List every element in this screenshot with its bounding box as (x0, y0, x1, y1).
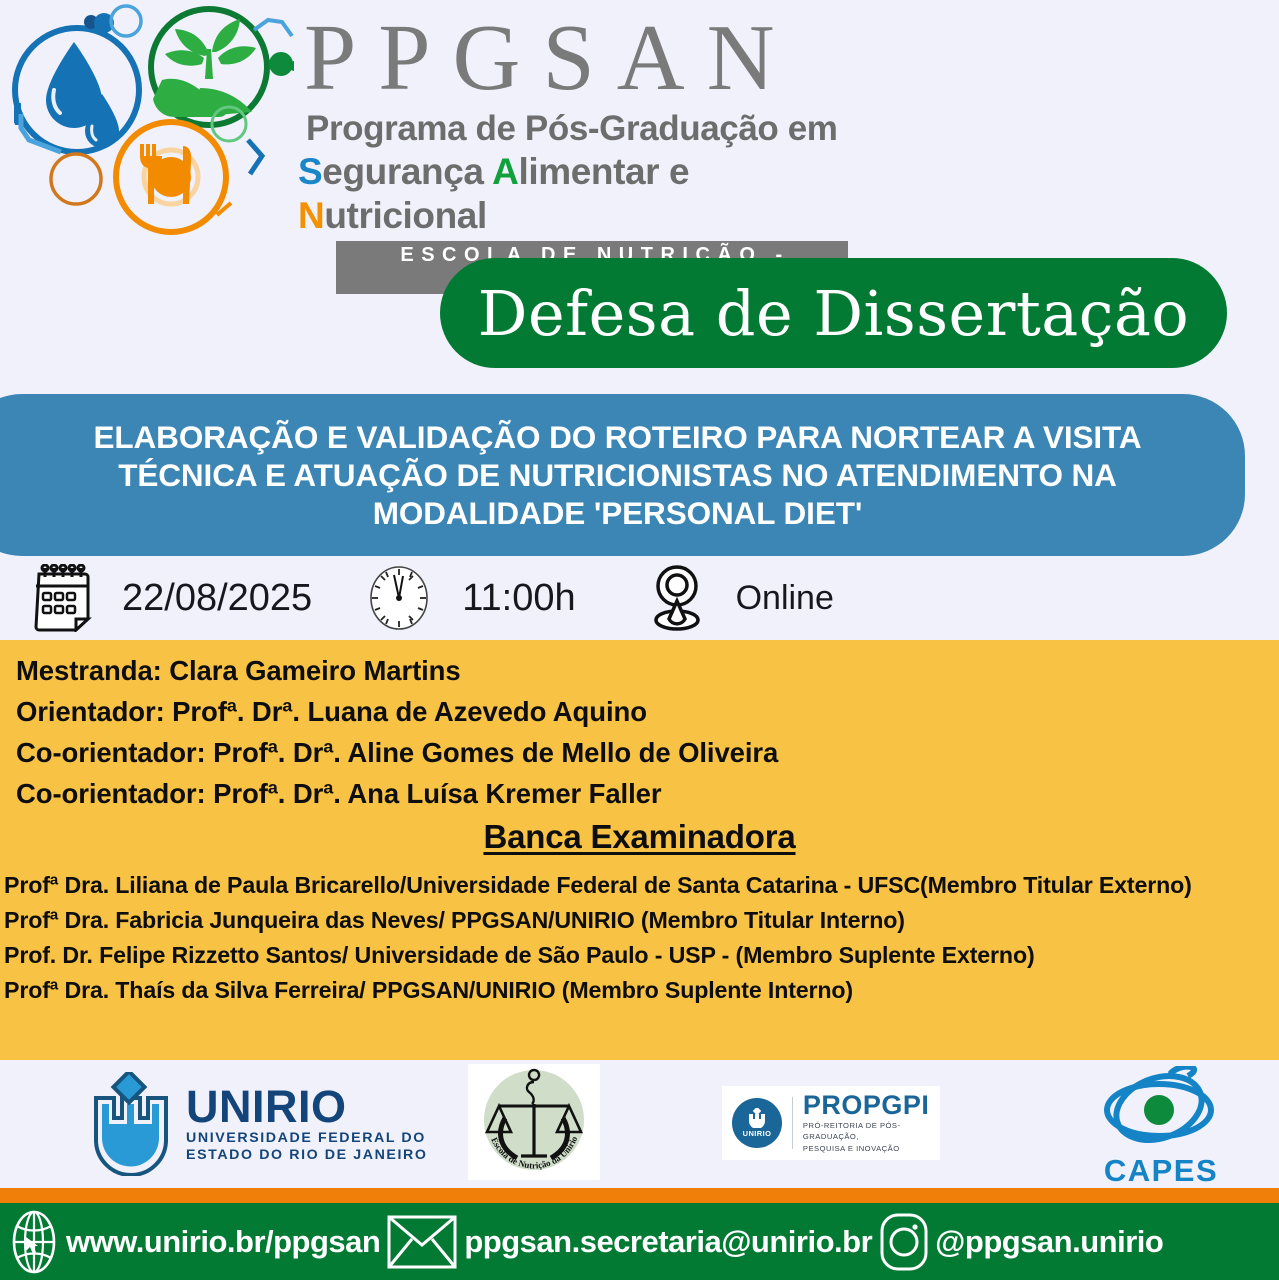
propgpi-badge-label: UNIRIO (743, 1129, 772, 1138)
capes-logo: CAPES (1086, 1066, 1236, 1184)
escola-nutricao-logo: Escola de Nutrição da Unirio (468, 1064, 600, 1180)
contact-footer: www.unirio.br/ppgsan ppgsan.secretaria@u… (0, 1203, 1279, 1280)
committee-member: Profª Dra. Fabricia Junqueira das Neves/… (4, 903, 1273, 938)
calendar-icon (30, 564, 94, 632)
thesis-title: ELABORAÇÃO E VALIDAÇÃO DO ROTEIRO PARA N… (50, 418, 1185, 532)
san-icons-graphic (4, 2, 294, 247)
instagram-text: @ppgsan.unirio (935, 1224, 1163, 1260)
instagram-contact[interactable]: @ppgsan.unirio (878, 1211, 1163, 1273)
people-list: Mestranda: Clara Gameiro Martins Orienta… (0, 640, 1279, 814)
people-line-advisor: Orientador: Profª. Drª. Luana de Azevedo… (16, 691, 1279, 732)
brand-wordmark: PPGSAN Programa de Pós-Graduação em Segu… (296, 8, 856, 240)
brand-s: S (298, 151, 322, 192)
website-contact[interactable]: www.unirio.br/ppgsan (8, 1209, 380, 1275)
globe-icon (8, 1209, 60, 1275)
propgpi-sub-2: PESQUISA E INOVAÇÃO (803, 1144, 940, 1155)
clock-icon (368, 564, 430, 632)
poster-header: PPGSAN Programa de Pós-Graduação em Segu… (0, 0, 1279, 250)
brand-seguranca: egurança (322, 151, 492, 192)
people-line-student: Mestranda: Clara Gameiro Martins (16, 650, 1279, 691)
committee-member: Prof. Dr. Felipe Rizzetto Santos/ Univer… (4, 938, 1273, 973)
brand-acronym: PPGSAN (296, 8, 856, 108)
event-type-label: Defesa de Dissertação (478, 277, 1190, 350)
people-line-coadvisor-2: Co-orientador: Profª. Drª. Ana Luísa Kre… (16, 773, 1279, 814)
escola-nutricao-seal-icon: Escola de Nutrição da Unirio (475, 1066, 593, 1178)
propgpi-logo: UNIRIO PROPGPI PRÓ-REITORIA DE PÓS-GRADU… (722, 1086, 940, 1160)
email-text: ppgsan.secretaria@unirio.br (464, 1224, 872, 1260)
brand-a: A (492, 151, 518, 192)
brand-alimentar: limentar e (518, 151, 689, 192)
brand-line-2: Programa de Pós-Graduação em (296, 108, 856, 150)
unirio-logo: UNIRIO UNIVERSIDADE FEDERAL DO ESTADO DO… (78, 1072, 428, 1176)
people-line-coadvisor-1: Co-orientador: Profª. Drª. Aline Gomes d… (16, 732, 1279, 773)
envelope-icon (386, 1213, 458, 1271)
committee-member: Profª Dra. Liliana de Paula Bricarello/U… (4, 868, 1273, 903)
event-location-item: Online (648, 563, 834, 633)
thesis-title-banner: ELABORAÇÃO E VALIDAÇÃO DO ROTEIRO PARA N… (0, 394, 1245, 556)
unirio-name: UNIRIO (186, 1084, 428, 1130)
email-contact[interactable]: ppgsan.secretaria@unirio.br (386, 1213, 872, 1271)
committee-heading: Banca Examinadora (0, 818, 1279, 856)
propgpi-name: PROPGPI (803, 1091, 940, 1119)
brand-n: N (298, 195, 324, 236)
capes-name: CAPES (1086, 1153, 1236, 1189)
map-pin-icon (648, 563, 706, 633)
committee-member: Profª Dra. Thaís da Silva Ferreira/ PPGS… (4, 973, 1273, 1008)
propgpi-divider (792, 1097, 793, 1149)
event-details-row: 22/08/2025 11:00h (0, 556, 1279, 640)
brand-line-3: Segurança Alimentar e Nutricional (296, 150, 856, 238)
committee-member-list: Profª Dra. Liliana de Paula Bricarello/U… (0, 868, 1279, 1008)
unirio-badge-icon (746, 1108, 768, 1128)
event-location-value: Online (736, 579, 834, 618)
propgpi-wordmark: PROPGPI PRÓ-REITORIA DE PÓS-GRADUAÇÃO, P… (803, 1091, 940, 1155)
footer-orange-stripe (0, 1188, 1279, 1203)
unirio-shield-icon (78, 1072, 176, 1176)
capes-orbit-icon (1086, 1066, 1236, 1152)
event-date-item: 22/08/2025 (30, 564, 312, 632)
brand-nutricional: utricional (324, 195, 487, 236)
website-text: www.unirio.br/ppgsan (66, 1224, 380, 1260)
unirio-sub-1: UNIVERSIDADE FEDERAL DO (186, 1130, 428, 1147)
event-type-banner: Defesa de Dissertação (440, 258, 1227, 368)
event-time-item: 11:00h (368, 564, 575, 632)
unirio-sub-2: ESTADO DO RIO DE JANEIRO (186, 1147, 428, 1164)
event-date-value: 22/08/2025 (122, 577, 312, 620)
instagram-icon (878, 1211, 930, 1273)
unirio-wordmark: UNIRIO UNIVERSIDADE FEDERAL DO ESTADO DO… (186, 1084, 428, 1164)
people-and-committee-block: Mestranda: Clara Gameiro Martins Orienta… (0, 640, 1279, 1060)
propgpi-sub-1: PRÓ-REITORIA DE PÓS-GRADUAÇÃO, (803, 1121, 940, 1142)
event-time-value: 11:00h (462, 577, 575, 620)
sponsor-logo-strip: UNIRIO UNIVERSIDADE FEDERAL DO ESTADO DO… (0, 1060, 1279, 1188)
propgpi-unirio-badge: UNIRIO (732, 1098, 782, 1148)
